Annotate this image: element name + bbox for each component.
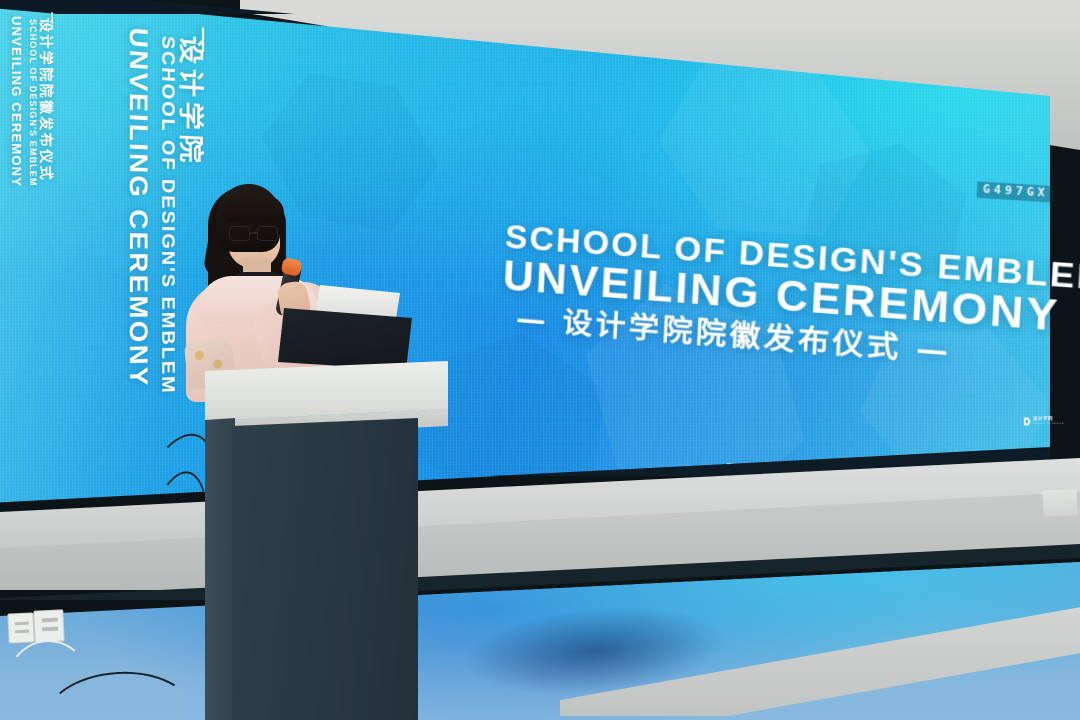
left-panel-line-en1: SCHOOL OF DESIGN'S EMBLEM xyxy=(157,35,178,395)
right-panel-line-en2: UNVEILING CEREMONY xyxy=(9,16,24,187)
screen-watermark-badge: G497GX xyxy=(977,181,1056,202)
event-photo-scene: G497GX SCHOOL OF DESIGN'S EMBLEM UNVEILI… xyxy=(0,0,1080,720)
right-panel-line-en1: SCHOOL OF DESIGN'S EMBLEM xyxy=(28,19,38,186)
podium-body xyxy=(232,418,418,720)
laptop xyxy=(278,308,412,370)
power-socket xyxy=(7,612,34,643)
speaker-fringe xyxy=(224,196,284,222)
right-logo-name-en: SCHOOL OF DESIGN xyxy=(1033,423,1064,425)
right-panel-title-cn: 设计学院院徽发布仪式 xyxy=(36,18,56,182)
d-hexagon-logo-icon xyxy=(1023,417,1031,426)
speaker-glasses xyxy=(229,226,281,241)
data-socket xyxy=(33,609,64,642)
right-logo-name-cn: 设计学院 xyxy=(1033,418,1064,423)
podium-body-side xyxy=(205,414,235,720)
left-panel-line-en2: UNVEILING CEREMONY xyxy=(123,26,152,388)
left-panel-title-cn: 设计学院 xyxy=(174,34,211,168)
right-panel-logo: 设计学院 SCHOOL OF DESIGN xyxy=(1023,417,1064,426)
wall-panel xyxy=(1042,489,1077,517)
main-headline: SCHOOL OF DESIGN'S EMBLEM UNVEILING CERE… xyxy=(500,220,1041,373)
